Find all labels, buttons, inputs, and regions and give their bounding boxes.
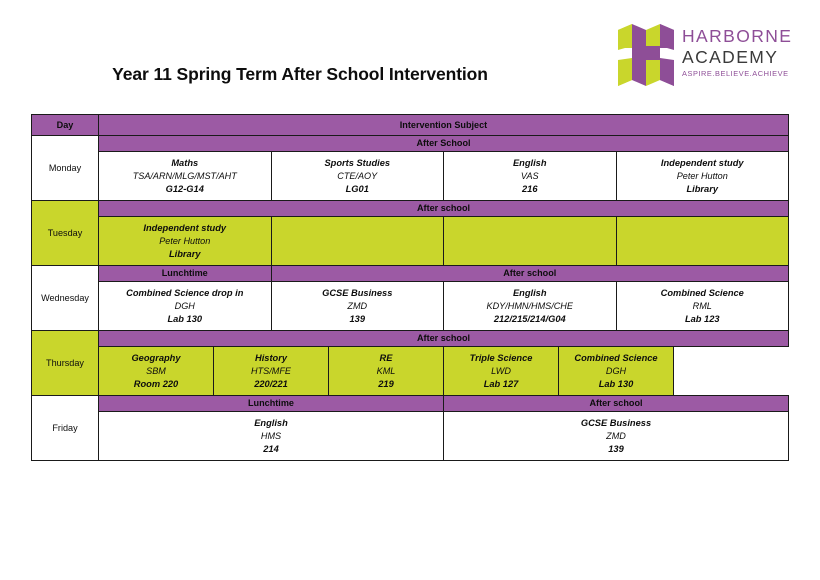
session-staff: VAS — [444, 170, 616, 183]
session-subject: Combined Science — [559, 352, 673, 365]
timetable-subjects-monday: MathsTSA/ARN/MLG/MST/AHTG12-G14Sports St… — [32, 152, 789, 201]
session-subject: English — [99, 417, 443, 430]
session-subject: Combined Science drop in — [99, 287, 271, 300]
timetable-row-monday: MondayAfter School — [32, 136, 789, 152]
band-friday-0: Lunchtime — [99, 396, 444, 412]
header-day-cell: Day — [32, 115, 99, 136]
day-label-thursday: Thursday — [32, 331, 99, 396]
session-subject: Maths — [99, 157, 271, 170]
timetable-page: Year 11 Spring Term After School Interve… — [0, 0, 820, 580]
session-staff: Peter Hutton — [617, 170, 789, 183]
session-staff: SBM — [99, 365, 213, 378]
timetable-row-wednesday: WednesdayLunchtimeAfter school — [32, 266, 789, 282]
session-room: 212/215/214/G04 — [444, 313, 616, 326]
session-subject: Independent study — [99, 222, 271, 235]
session-staff: CTE/AOY — [272, 170, 444, 183]
session-room: 216 — [444, 183, 616, 196]
session-room: Lab 130 — [99, 313, 271, 326]
timetable-row-tuesday: TuesdayAfter school — [32, 201, 789, 217]
session-staff: KML — [329, 365, 443, 378]
session-subject: RE — [329, 352, 443, 365]
session-subject: English — [444, 287, 616, 300]
session-tuesday-4 — [616, 217, 789, 266]
session-subject: Combined Science — [617, 287, 789, 300]
session-thursday-5: Combined ScienceDGHLab 130 — [559, 347, 674, 396]
band-friday-1: After school — [444, 396, 789, 412]
session-staff: DGH — [99, 300, 271, 313]
session-staff: TSA/ARN/MLG/MST/AHT — [99, 170, 271, 183]
session-friday-1: EnglishHMS214 — [99, 412, 444, 461]
session-monday-2: Sports StudiesCTE/AOYLG01 — [271, 152, 444, 201]
page-title: Year 11 Spring Term After School Interve… — [0, 64, 600, 85]
session-subject: Geography — [99, 352, 213, 365]
session-wednesday-2: GCSE BusinessZMD139 — [271, 282, 444, 331]
day-label-wednesday: Wednesday — [32, 266, 99, 331]
band-monday-0: After School — [99, 136, 789, 152]
harborne-academy-logo: HARBORNE ACADEMY ASPIRE.BELIEVE.ACHIEVE — [618, 24, 808, 90]
session-monday-1: MathsTSA/ARN/MLG/MST/AHTG12-G14 — [99, 152, 272, 201]
header-subject-cell: Intervention Subject — [99, 115, 789, 136]
page-header: Year 11 Spring Term After School Interve… — [0, 0, 820, 108]
session-staff: LWD — [444, 365, 558, 378]
session-tuesday-1: Independent studyPeter HuttonLibrary — [99, 217, 272, 266]
band-tuesday-0: After school — [99, 201, 789, 217]
session-room: Lab 130 — [559, 378, 673, 391]
day-label-tuesday: Tuesday — [32, 201, 99, 266]
session-staff: Peter Hutton — [99, 235, 271, 248]
session-staff: KDY/HMN/HMS/CHE — [444, 300, 616, 313]
session-staff: RML — [617, 300, 789, 313]
session-monday-4: Independent studyPeter HuttonLibrary — [616, 152, 789, 201]
timetable-row-friday: FridayLunchtimeAfter school — [32, 396, 789, 412]
session-room: Lab 123 — [617, 313, 789, 326]
band-wednesday-0: Lunchtime — [99, 266, 272, 282]
band-thursday-0: After school — [99, 331, 789, 347]
session-subject: Sports Studies — [272, 157, 444, 170]
session-wednesday-1: Combined Science drop inDGHLab 130 — [99, 282, 272, 331]
session-room: LG01 — [272, 183, 444, 196]
day-label-monday: Monday — [32, 136, 99, 201]
session-tuesday-3 — [444, 217, 617, 266]
session-subject: GCSE Business — [272, 287, 444, 300]
session-subject: English — [444, 157, 616, 170]
session-monday-3: EnglishVAS216 — [444, 152, 617, 201]
timetable-subjects-wednesday: Combined Science drop inDGHLab 130GCSE B… — [32, 282, 789, 331]
session-thursday-2: HistoryHTS/MFE220/221 — [214, 347, 329, 396]
session-subject: Independent study — [617, 157, 789, 170]
session-staff: HTS/MFE — [214, 365, 328, 378]
band-wednesday-1: After school — [271, 266, 789, 282]
session-room: 220/221 — [214, 378, 328, 391]
session-staff: ZMD — [444, 430, 788, 443]
session-room: 219 — [329, 378, 443, 391]
timetable-subjects-friday: EnglishHMS214GCSE BusinessZMD139 — [32, 412, 789, 461]
timetable-subjects-tuesday: Independent studyPeter HuttonLibrary — [32, 217, 789, 266]
logo-line-harborne: HARBORNE — [682, 26, 810, 47]
logo-wordmark: HARBORNE ACADEMY ASPIRE.BELIEVE.ACHIEVE — [682, 26, 810, 79]
timetable-body: DayIntervention SubjectMondayAfter Schoo… — [32, 115, 789, 461]
session-thursday-3: REKML219 — [329, 347, 444, 396]
session-room: G12-G14 — [99, 183, 271, 196]
session-room: Library — [99, 248, 271, 261]
session-wednesday-4: Combined ScienceRMLLab 123 — [616, 282, 789, 331]
session-staff: HMS — [99, 430, 443, 443]
session-subject: History — [214, 352, 328, 365]
session-wednesday-3: EnglishKDY/HMN/HMS/CHE212/215/214/G04 — [444, 282, 617, 331]
session-thursday-4: Triple ScienceLWDLab 127 — [444, 347, 559, 396]
session-staff: DGH — [559, 365, 673, 378]
session-room: Lab 127 — [444, 378, 558, 391]
session-tuesday-2 — [271, 217, 444, 266]
timetable-row-thursday: ThursdayAfter school — [32, 331, 789, 347]
intervention-timetable: DayIntervention SubjectMondayAfter Schoo… — [31, 114, 789, 461]
session-room: 214 — [99, 443, 443, 456]
logo-h-mark — [618, 24, 674, 86]
session-subject: GCSE Business — [444, 417, 788, 430]
timetable-subjects-thursday: GeographySBMRoom 220HistoryHTS/MFE220/22… — [32, 347, 789, 396]
session-room: 139 — [272, 313, 444, 326]
session-staff: ZMD — [272, 300, 444, 313]
day-label-friday: Friday — [32, 396, 99, 461]
logo-tagline: ASPIRE.BELIEVE.ACHIEVE — [682, 68, 810, 79]
session-subject: Triple Science — [444, 352, 558, 365]
session-thursday-1: GeographySBMRoom 220 — [99, 347, 214, 396]
session-friday-2: GCSE BusinessZMD139 — [444, 412, 789, 461]
timetable-header-row: DayIntervention Subject — [32, 115, 789, 136]
logo-line-academy: ACADEMY — [682, 47, 810, 68]
session-room: Library — [617, 183, 789, 196]
session-room: 139 — [444, 443, 788, 456]
session-room: Room 220 — [99, 378, 213, 391]
